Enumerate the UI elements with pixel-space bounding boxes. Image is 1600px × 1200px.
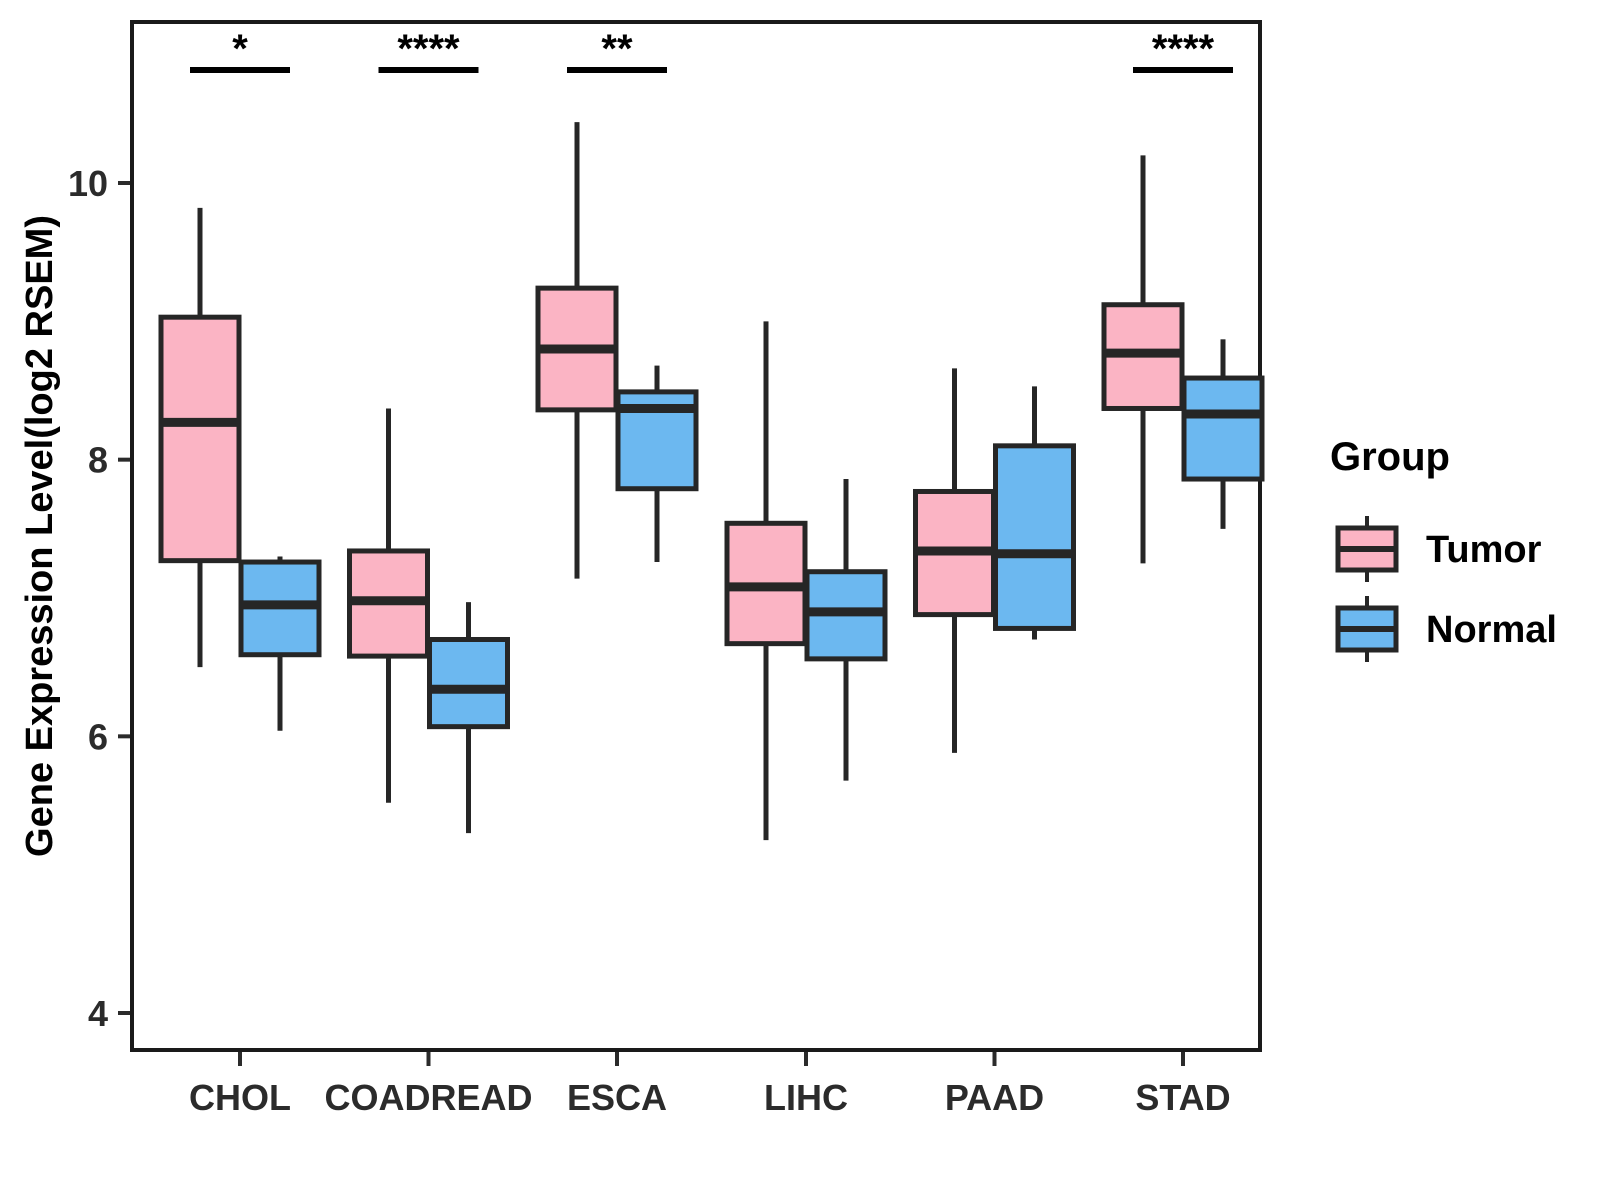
significance-label: * — [232, 27, 248, 71]
legend-item-normal[interactable]: Normal — [1338, 596, 1557, 662]
box-iqr — [1184, 378, 1262, 479]
legend-title: Group — [1330, 435, 1450, 479]
x-tick-label-chol: CHOL — [189, 1077, 291, 1118]
x-tick-label-paad: PAAD — [945, 1077, 1044, 1118]
box-iqr — [161, 317, 239, 560]
significance-label: ** — [601, 27, 633, 71]
x-tick-label-esca: ESCA — [567, 1077, 667, 1118]
plot-panel-background — [132, 22, 1260, 1050]
y-tick-label: 4 — [88, 993, 108, 1034]
x-axis-ticks: CHOLCOADREADESCALIHCPAADSTAD — [189, 1050, 1231, 1118]
significance-label: **** — [1152, 27, 1215, 71]
x-tick-label-lihc: LIHC — [764, 1077, 848, 1118]
legend-label: Tumor — [1426, 529, 1542, 571]
legend-item-tumor[interactable]: Tumor — [1338, 516, 1542, 582]
box-iqr — [430, 639, 508, 726]
x-tick-label-stad: STAD — [1135, 1077, 1230, 1118]
y-tick-label: 8 — [88, 440, 108, 481]
x-tick-label-coadread: COADREAD — [324, 1077, 532, 1118]
chart-canvas: Gene Expression Level(log2 RSEM) 46810 C… — [0, 0, 1600, 1200]
y-tick-label: 10 — [68, 163, 108, 204]
boxplot-figure: Gene Expression Level(log2 RSEM) 46810 C… — [0, 0, 1600, 1200]
y-tick-label: 6 — [88, 716, 108, 757]
box-iqr — [996, 446, 1074, 629]
y-axis-title: Gene Expression Level(log2 RSEM) — [19, 215, 61, 857]
y-axis-ticks: 46810 — [68, 163, 132, 1034]
legend-label: Normal — [1426, 609, 1557, 651]
chart-legend: GroupTumorNormal — [1330, 435, 1557, 662]
significance-label: **** — [397, 27, 460, 71]
